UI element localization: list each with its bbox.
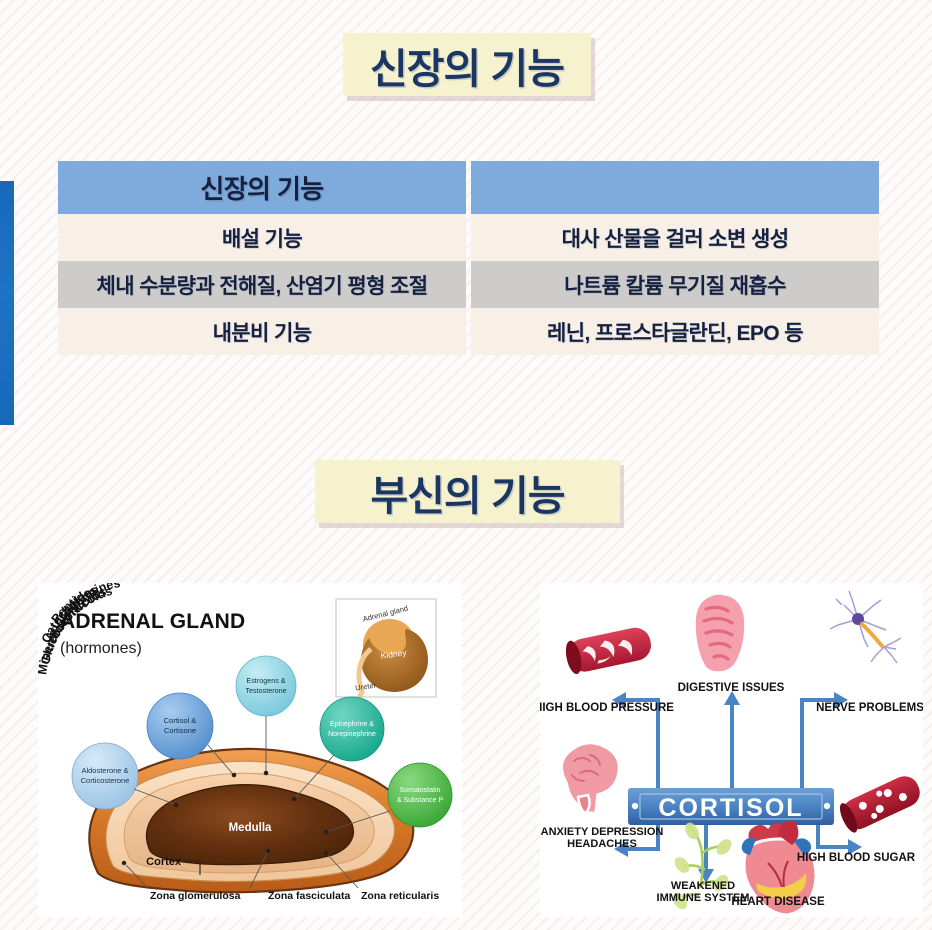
- section-title-kidney-text: 신장의 기능: [370, 35, 564, 95]
- peptides-detail-line1: Somatostatin: [400, 787, 441, 794]
- section-title-adrenal: 부신의 기능: [315, 460, 620, 523]
- digestive-issues-label: DIGESTIVE ISSUES: [678, 682, 785, 694]
- table-column-right: 대사 산물을 걸러 소변 생성 나트륨 칼륨 무기질 재흡수 레닌, 프로스타글…: [471, 161, 879, 355]
- cortex-label: Cortex: [146, 856, 182, 868]
- immune-label-line1: WEAKENED: [671, 880, 735, 892]
- cortisol-effects-panel: CORTISOL HIGH BLOOD PRESSURE: [540, 583, 923, 917]
- table-cell-left-2: 체내 수분량과 전해질, 산염기 평형 조절: [58, 261, 466, 308]
- zona-reticularis-label: Zona reticularis: [361, 890, 439, 902]
- infographic-page: 신장의 기능 신장의 기능 배설 기능 체내 수분량과 전해질, 산염기 평형 …: [0, 0, 932, 930]
- cortisol-label-text: CORTISOL: [658, 794, 803, 822]
- high-blood-pressure-label: HIGH BLOOD PRESSURE: [540, 702, 674, 714]
- peptides-detail-line2: & Substance P: [397, 797, 444, 804]
- section-title-kidney: 신장의 기능: [343, 33, 591, 96]
- section-title-adrenal-text: 부신의 기능: [371, 462, 565, 522]
- arrow-group: [622, 700, 852, 871]
- table-cell-left-1: 배설 기능: [58, 214, 466, 261]
- androgens-detail-line2: Testosterone: [245, 686, 286, 695]
- anxiety-label-line1: ANXIETY DEPRESSION: [541, 826, 664, 838]
- intestine-icon: DIGESTIVE ISSUES: [678, 593, 785, 694]
- table-cell-right-3: 레닌, 프로스타글란딘, EPO 등: [471, 308, 879, 355]
- table-cell-right-2: 나트륨 칼륨 무기질 재흡수: [471, 261, 879, 308]
- catecholamines-detail-line1: Epinephrine &: [330, 721, 374, 728]
- glucocorticoids-detail-line2: Cortisone: [164, 726, 196, 735]
- mineralocorticoids-detail-line2: Corticosterone: [81, 776, 130, 785]
- table-column-left: 신장의 기능 배설 기능 체내 수분량과 전해질, 산염기 평형 조절 내분비 …: [58, 161, 466, 355]
- adrenal-subtitle-text: (hormones): [60, 640, 142, 657]
- table-header-left: 신장의 기능: [58, 161, 466, 214]
- kidney-function-table: 신장의 기능 배설 기능 체내 수분량과 전해질, 산염기 평형 조절 내분비 …: [58, 161, 879, 355]
- heart-icon: HEART DISEASE: [731, 821, 825, 915]
- cortisol-effects-illustration: CORTISOL HIGH BLOOD PRESSURE: [540, 583, 923, 917]
- adrenal-gland-panel: ADRENAL GLAND (hormones) Adrenal gland K…: [38, 583, 462, 917]
- zona-glomerulosa-label: Zona glomerulosa: [150, 890, 241, 902]
- neuron-icon: NERVE PROBLEMS: [816, 591, 923, 714]
- anxiety-label-line2: HEADACHES: [567, 838, 637, 850]
- heart-disease-label: HEART DISEASE: [731, 896, 825, 908]
- adrenal-title-text: ADRENAL GLAND: [60, 610, 245, 633]
- cortisol-banner: CORTISOL: [628, 788, 834, 825]
- androgens-detail-line1: Estrogens &: [246, 676, 285, 685]
- kidney-inset: Adrenal gland Kidney Ureter: [336, 599, 436, 710]
- adrenal-gland-illustration: ADRENAL GLAND (hormones) Adrenal gland K…: [38, 583, 462, 917]
- high-blood-sugar-label: HIGH BLOOD SUGAR: [797, 852, 916, 864]
- zona-fasciculata-label: Zona fasciculata: [268, 890, 350, 902]
- nerve-problems-label: NERVE PROBLEMS: [816, 702, 923, 714]
- table-cell-left-3: 내분비 기능: [58, 308, 466, 355]
- left-accent-bar: [0, 181, 14, 425]
- mineralocorticoids-detail-line1: Aldosterone &: [81, 766, 128, 775]
- table-cell-right-1: 대사 산물을 걸러 소변 생성: [471, 214, 879, 261]
- medulla-label: Medulla: [229, 822, 272, 834]
- catecholamines-detail-line2: Norepinephrine: [328, 731, 376, 738]
- glucocorticoids-detail-line1: Cortisol &: [164, 716, 197, 725]
- table-header-right: [471, 161, 879, 214]
